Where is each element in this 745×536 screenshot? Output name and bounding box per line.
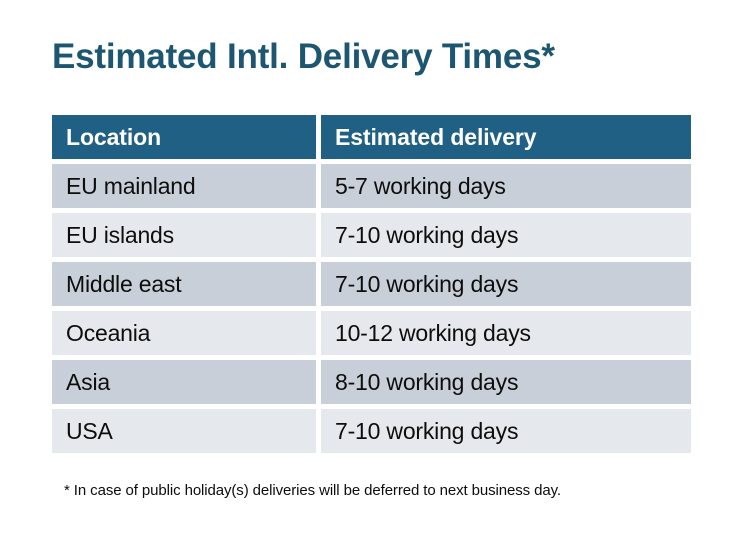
page-title: Estimated Intl. Delivery Times* bbox=[52, 36, 555, 78]
table-header-row: Location Estimated delivery bbox=[52, 115, 691, 159]
cell-location: Middle east bbox=[52, 262, 316, 306]
table-row: USA 7-10 working days bbox=[52, 409, 691, 453]
table-row: Asia 8-10 working days bbox=[52, 360, 691, 404]
delivery-times-page: Estimated Intl. Delivery Times* Location… bbox=[0, 0, 745, 536]
cell-location: EU islands bbox=[52, 213, 316, 257]
cell-location: Asia bbox=[52, 360, 316, 404]
column-header-location: Location bbox=[52, 115, 316, 159]
estimated-delivery-table: Location Estimated delivery EU mainland … bbox=[47, 110, 696, 458]
cell-delivery: 5-7 working days bbox=[321, 164, 691, 208]
table-row: EU islands 7-10 working days bbox=[52, 213, 691, 257]
table-body: EU mainland 5-7 working days EU islands … bbox=[52, 164, 691, 453]
cell-delivery: 8-10 working days bbox=[321, 360, 691, 404]
cell-location: Oceania bbox=[52, 311, 316, 355]
cell-location: EU mainland bbox=[52, 164, 316, 208]
cell-delivery: 7-10 working days bbox=[321, 213, 691, 257]
cell-location: USA bbox=[52, 409, 316, 453]
cell-delivery: 7-10 working days bbox=[321, 262, 691, 306]
footnote: * In case of public holiday(s) deliverie… bbox=[64, 481, 561, 501]
table-row: EU mainland 5-7 working days bbox=[52, 164, 691, 208]
table-row: Middle east 7-10 working days bbox=[52, 262, 691, 306]
cell-delivery: 10-12 working days bbox=[321, 311, 691, 355]
table-header: Location Estimated delivery bbox=[52, 115, 691, 159]
table-row: Oceania 10-12 working days bbox=[52, 311, 691, 355]
cell-delivery: 7-10 working days bbox=[321, 409, 691, 453]
column-header-estimated-delivery: Estimated delivery bbox=[321, 115, 691, 159]
